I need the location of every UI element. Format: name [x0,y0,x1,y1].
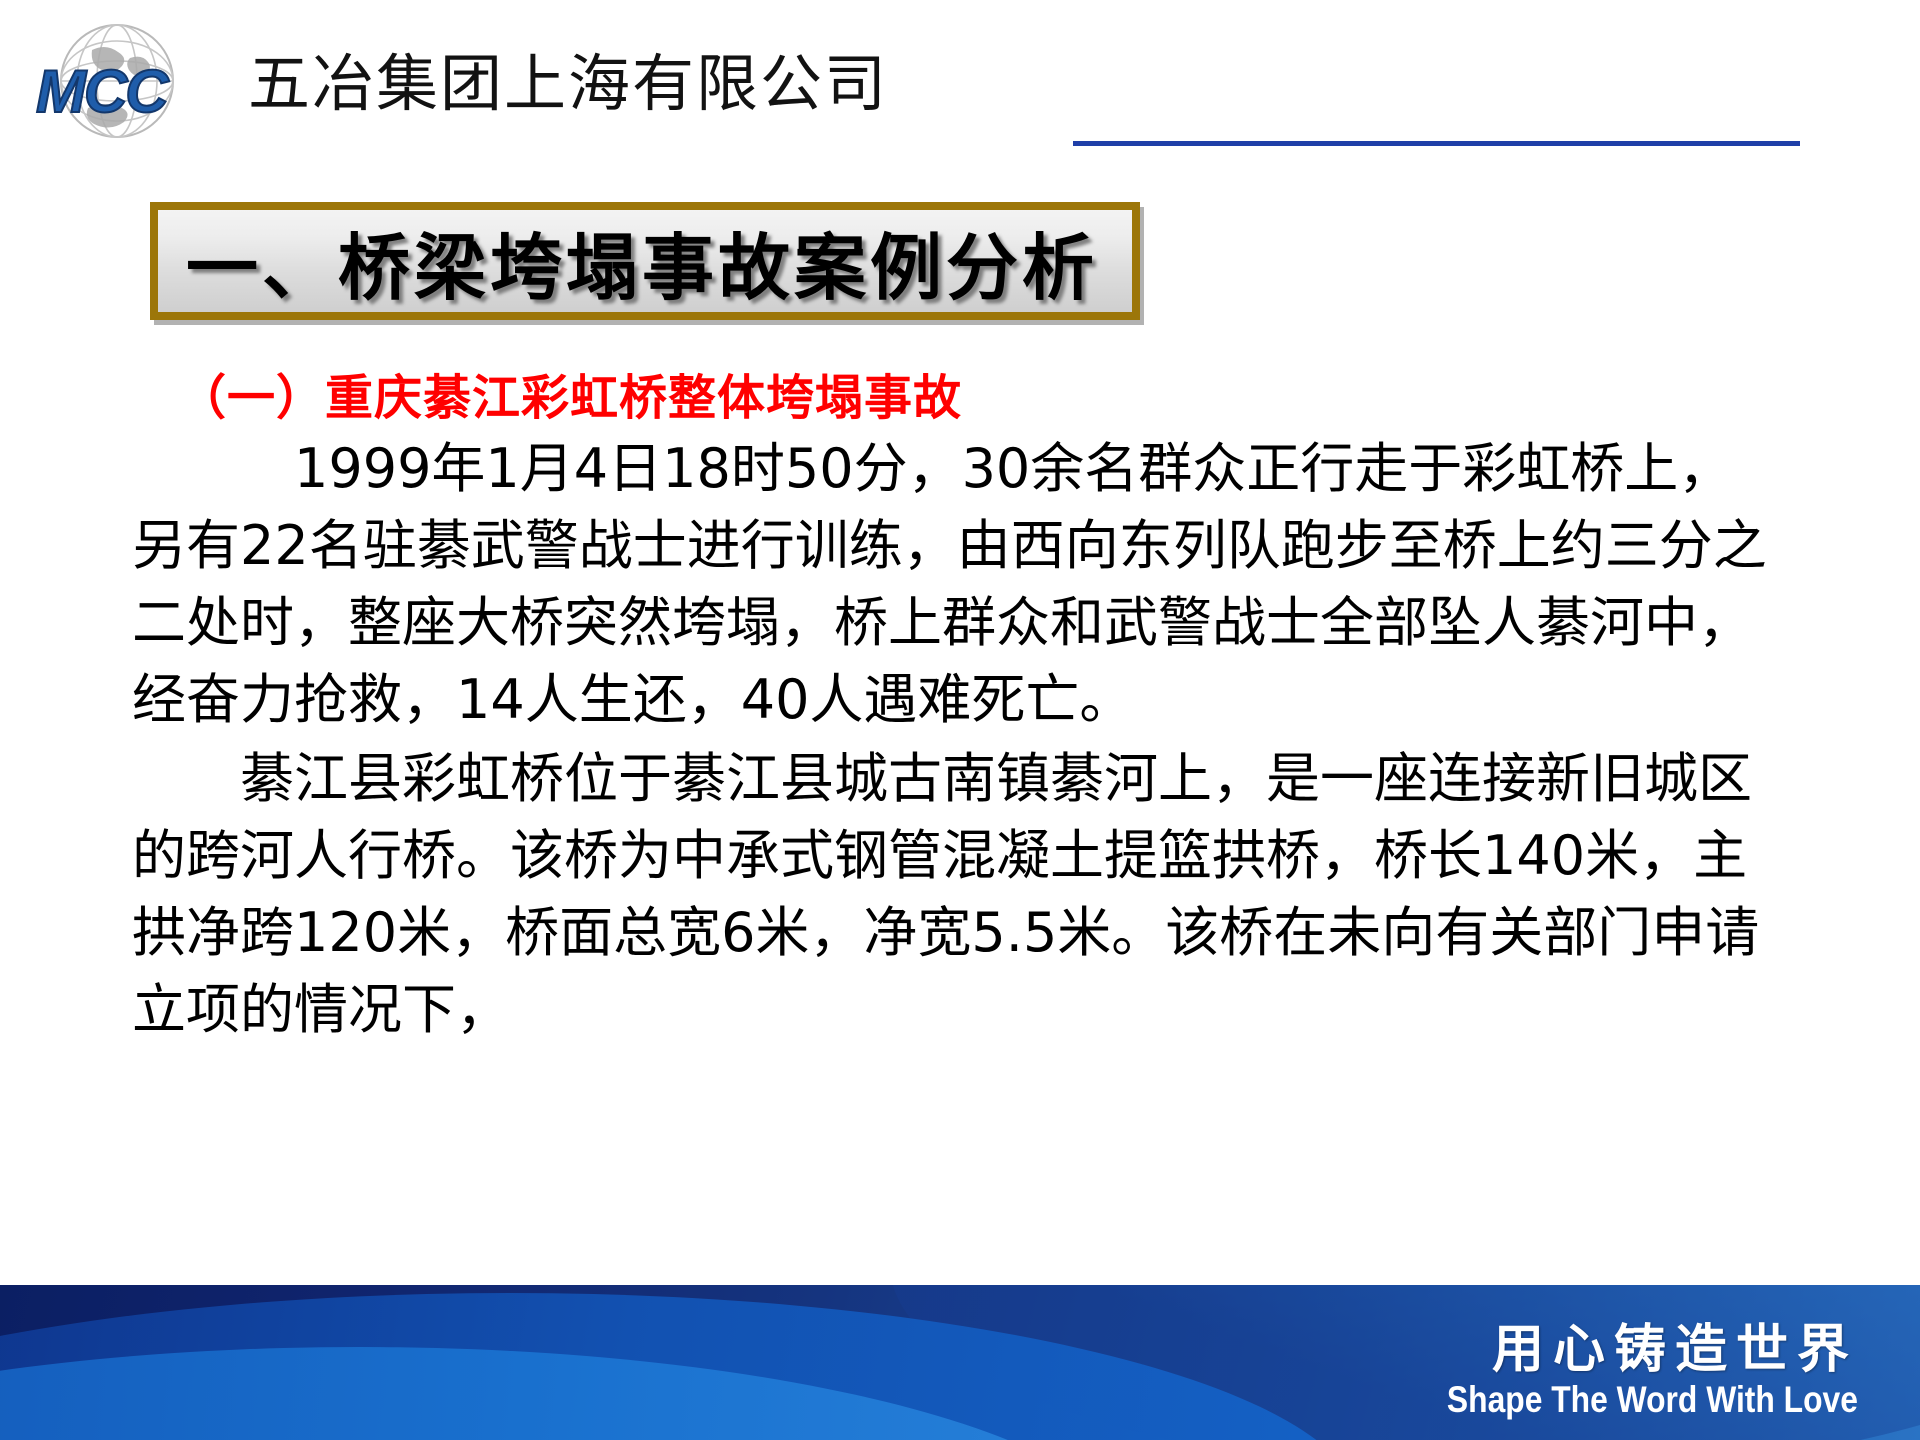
footer-slogan-chinese: 用心铸造世界 [1492,1307,1858,1382]
footer-slogan-english: Shape The Word With Love [1447,1379,1858,1421]
header-underline [1073,141,1800,146]
mcc-logo: MCC [28,22,228,140]
company-name: 五冶集团上海有限公司 [248,48,888,120]
case-subtitle: （一）重庆綦江彩虹桥整体垮塌事故 [178,358,962,428]
section-title-text: 一、桥梁垮塌事故案例分析 [158,210,1132,312]
slide-header: MCC 五冶集团上海有限公司 [0,0,1920,160]
body-content: 1999年1月4日18时50分，30余名群众正行走于彩虹桥上，另有22名驻綦武警… [132,430,1777,1048]
mcc-logo-text: MCC [36,64,228,120]
body-paragraph: 綦江县彩虹桥位于綦江县城古南镇綦河上，是一座连接新旧城区的跨河人行桥。该桥为中承… [132,740,1777,1048]
slide-footer: 用心铸造世界 Shape The Word With Love [0,1285,1920,1440]
section-title-banner: 一、桥梁垮塌事故案例分析 [150,202,1140,320]
body-paragraph: 1999年1月4日18时50分，30余名群众正行走于彩虹桥上，另有22名驻綦武警… [132,430,1777,738]
